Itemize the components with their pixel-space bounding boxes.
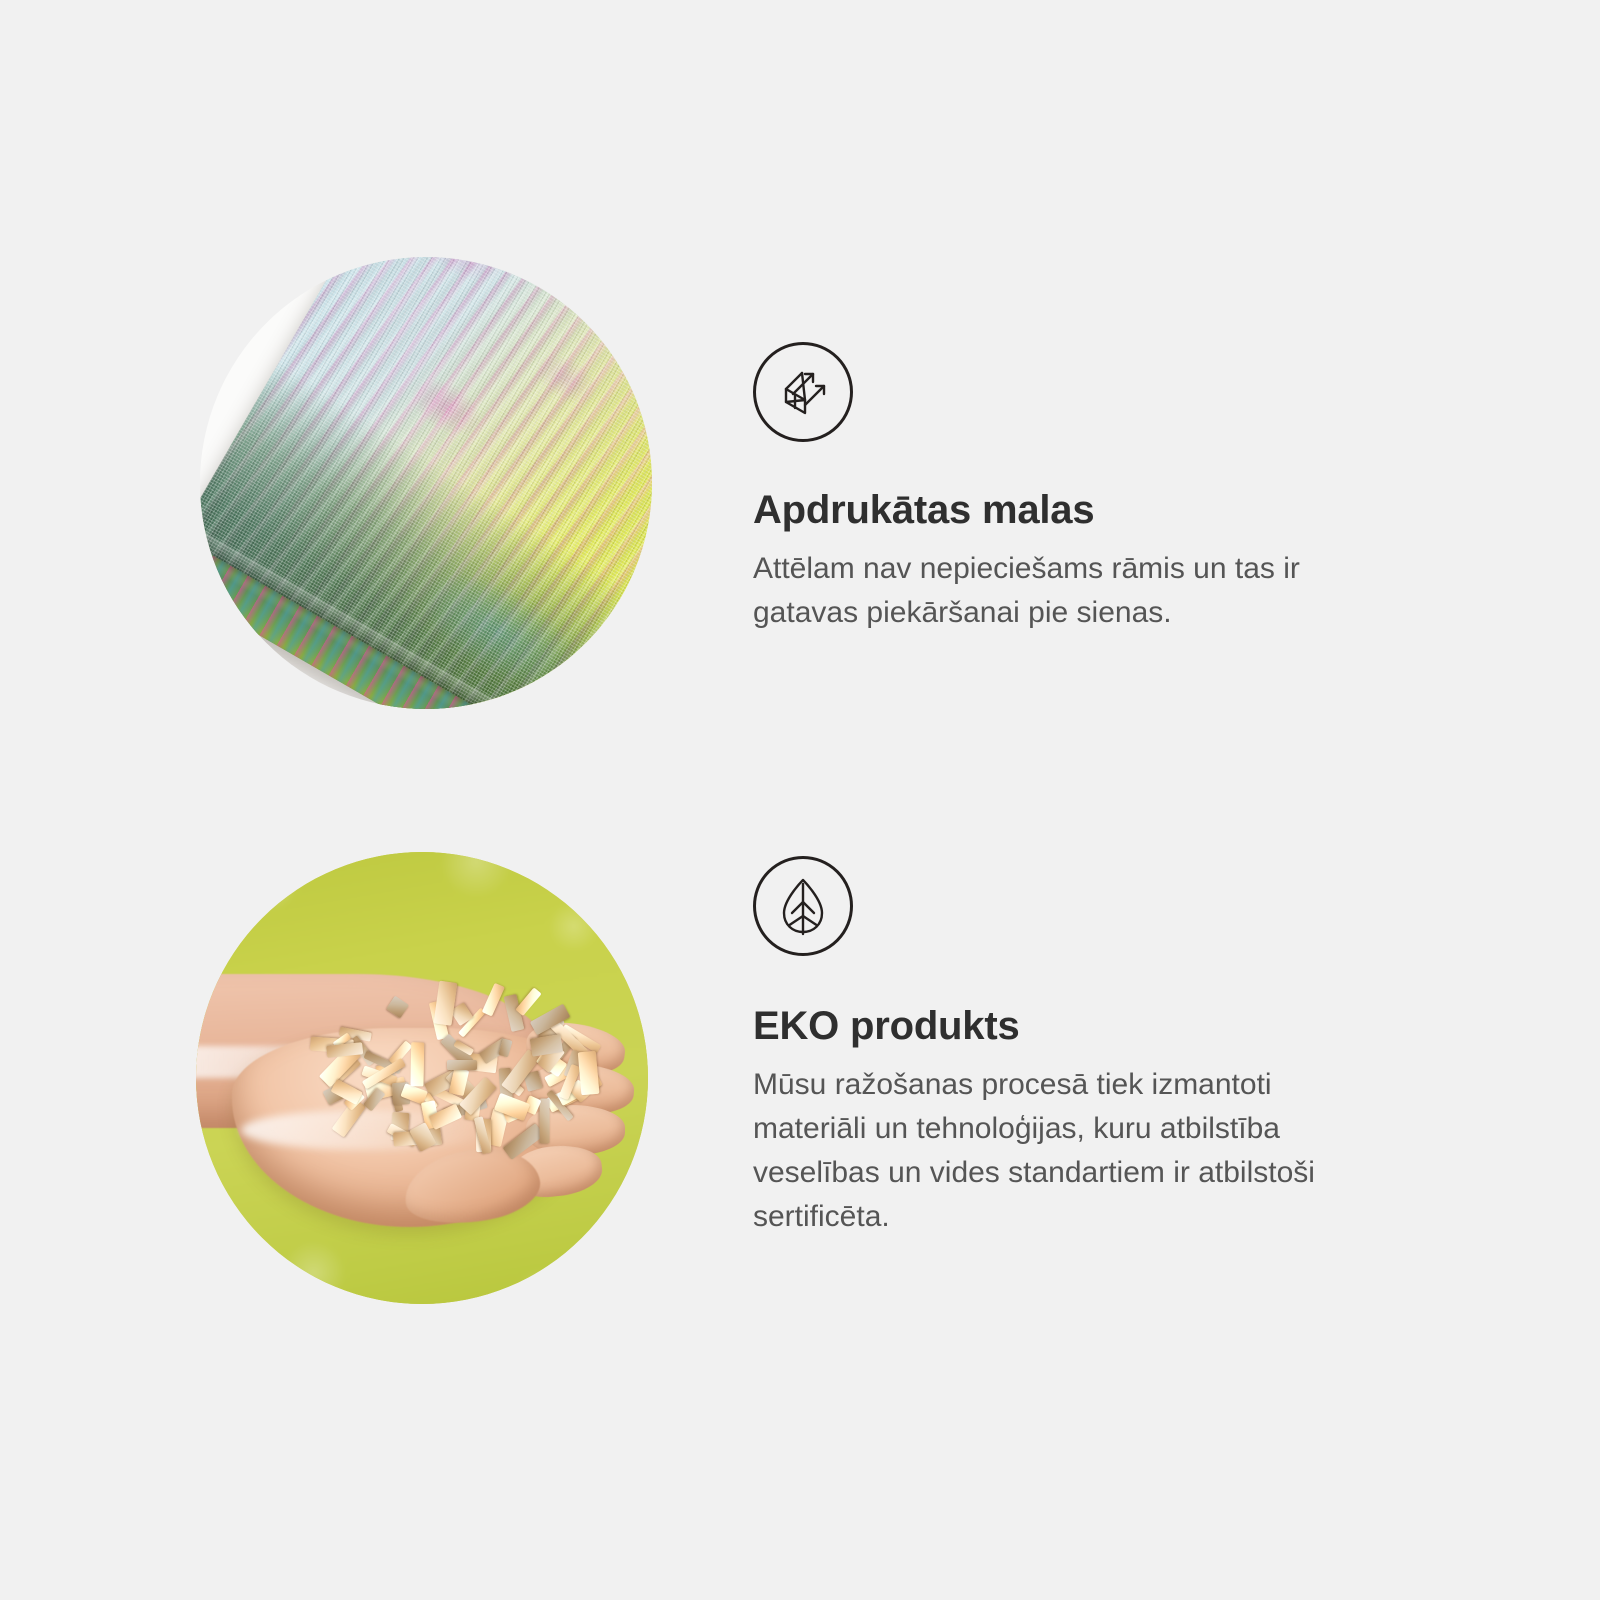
feature-1-description-line-2: gatavas piekāršanai pie sienas. [753, 591, 1600, 635]
wood-chip [482, 982, 505, 1016]
wood-chip [578, 1051, 600, 1095]
wood-chip [515, 987, 541, 1016]
wood-chips-in-hands-photo [196, 852, 648, 1304]
product-features-page: Apdrukātas malas Attēlam nav nepieciešam… [0, 0, 1600, 1600]
feature-block-eco-product: EKO produkts Mūsu ražošanas procesā tiek… [0, 830, 1600, 1390]
feature-1-description: Attēlam nav nepieciešams rāmis un tas ir… [753, 547, 1600, 635]
leaf-icon [753, 856, 853, 956]
feature-2-media-column [0, 830, 740, 1390]
eco-photo-scene [196, 852, 648, 1304]
feature-2-description-line-3: veselības un vides standartiem ir atbils… [753, 1151, 1600, 1195]
canvas-corner-photo [200, 257, 652, 709]
canvas-photo-scene [200, 257, 652, 709]
feature-2-title: EKO produkts [753, 1004, 1600, 1049]
feature-block-printed-edges: Apdrukātas malas Attēlam nav nepieciešam… [0, 250, 1600, 770]
wood-chip [539, 1099, 549, 1144]
wood-chips [304, 974, 575, 1146]
wood-chip [433, 981, 457, 1026]
feature-2-description: Mūsu ražošanas procesā tiek izmantoti ma… [753, 1063, 1600, 1239]
feature-2-description-line-4: sertificēta. [753, 1195, 1600, 1239]
feature-2-text-column: EKO produkts Mūsu ražošanas procesā tiek… [740, 830, 1600, 1390]
feature-2-description-line-2: materiāli un tehnoloģijas, kuru atbilstī… [753, 1107, 1600, 1151]
wood-chip [386, 996, 409, 1019]
wood-chip [447, 1060, 477, 1070]
canvas-wrapped-edges-icon [753, 342, 853, 442]
wood-chip [411, 1042, 424, 1086]
feature-1-text-column: Apdrukātas malas Attēlam nav nepieciešam… [740, 250, 1600, 770]
feature-2-description-line-1: Mūsu ražošanas procesā tiek izmantoti [753, 1063, 1600, 1107]
feature-1-title: Apdrukātas malas [753, 488, 1600, 533]
feature-1-media-column [0, 250, 740, 770]
feature-1-description-line-1: Attēlam nav nepieciešams rāmis un tas ir [753, 547, 1600, 591]
